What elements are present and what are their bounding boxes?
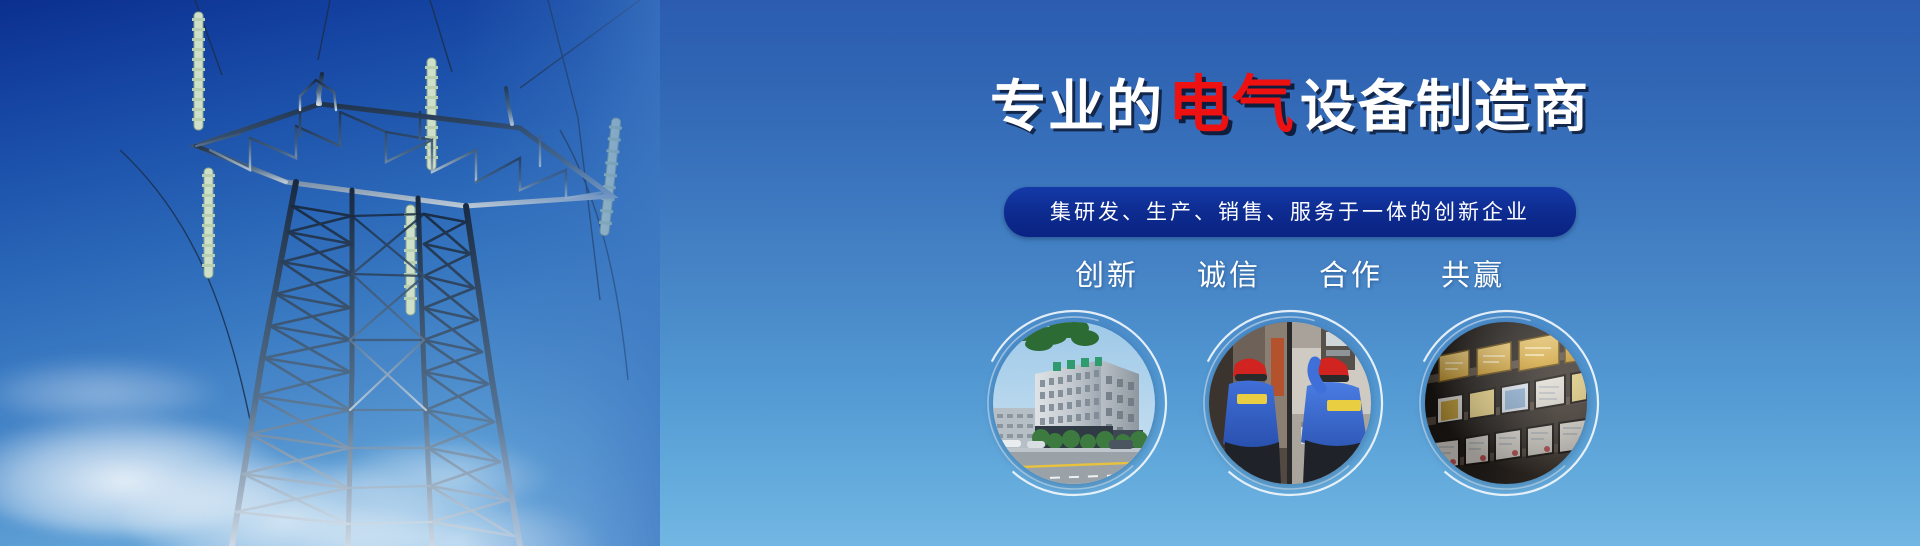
photo-circle-office-building[interactable]: [993, 322, 1155, 484]
keyword-innovation: 创新: [1075, 252, 1139, 294]
photo-fade-overlay: [0, 0, 660, 546]
banner-content: 专业的电气设备制造商 集研发、生产、销售、服务于一体的创新企业 创新诚信合作共赢: [660, 0, 1920, 546]
keyword-winwin: 共赢: [1441, 252, 1505, 294]
tagline-row: 集研发、生产、销售、服务于一体的创新企业: [660, 187, 1920, 237]
certificate-wall-image: [1425, 322, 1587, 484]
headline-highlight: 电气: [1164, 74, 1300, 136]
keyword-cooperation: 合作: [1319, 252, 1383, 294]
tagline-pill: 集研发、生产、销售、服务于一体的创新企业: [1004, 187, 1576, 237]
keyword-row: 创新诚信合作共赢: [660, 252, 1920, 294]
headline-part-2: 设备制造商: [1300, 77, 1590, 139]
transmission-tower-photo: [0, 0, 660, 546]
keyword-integrity: 诚信: [1197, 252, 1261, 294]
page-title: 专业的电气设备制造商: [660, 74, 1920, 139]
photo-circle-workers[interactable]: [1209, 322, 1371, 484]
workers-image: [1209, 322, 1371, 484]
photo-circle-row: [660, 322, 1920, 484]
photo-circle-certificate-wall[interactable]: [1425, 322, 1587, 484]
headline-part-1: 专业的: [990, 77, 1164, 139]
hero-banner: 专业的电气设备制造商 集研发、生产、销售、服务于一体的创新企业 创新诚信合作共赢: [0, 0, 1920, 546]
office-building-image: [993, 322, 1155, 484]
